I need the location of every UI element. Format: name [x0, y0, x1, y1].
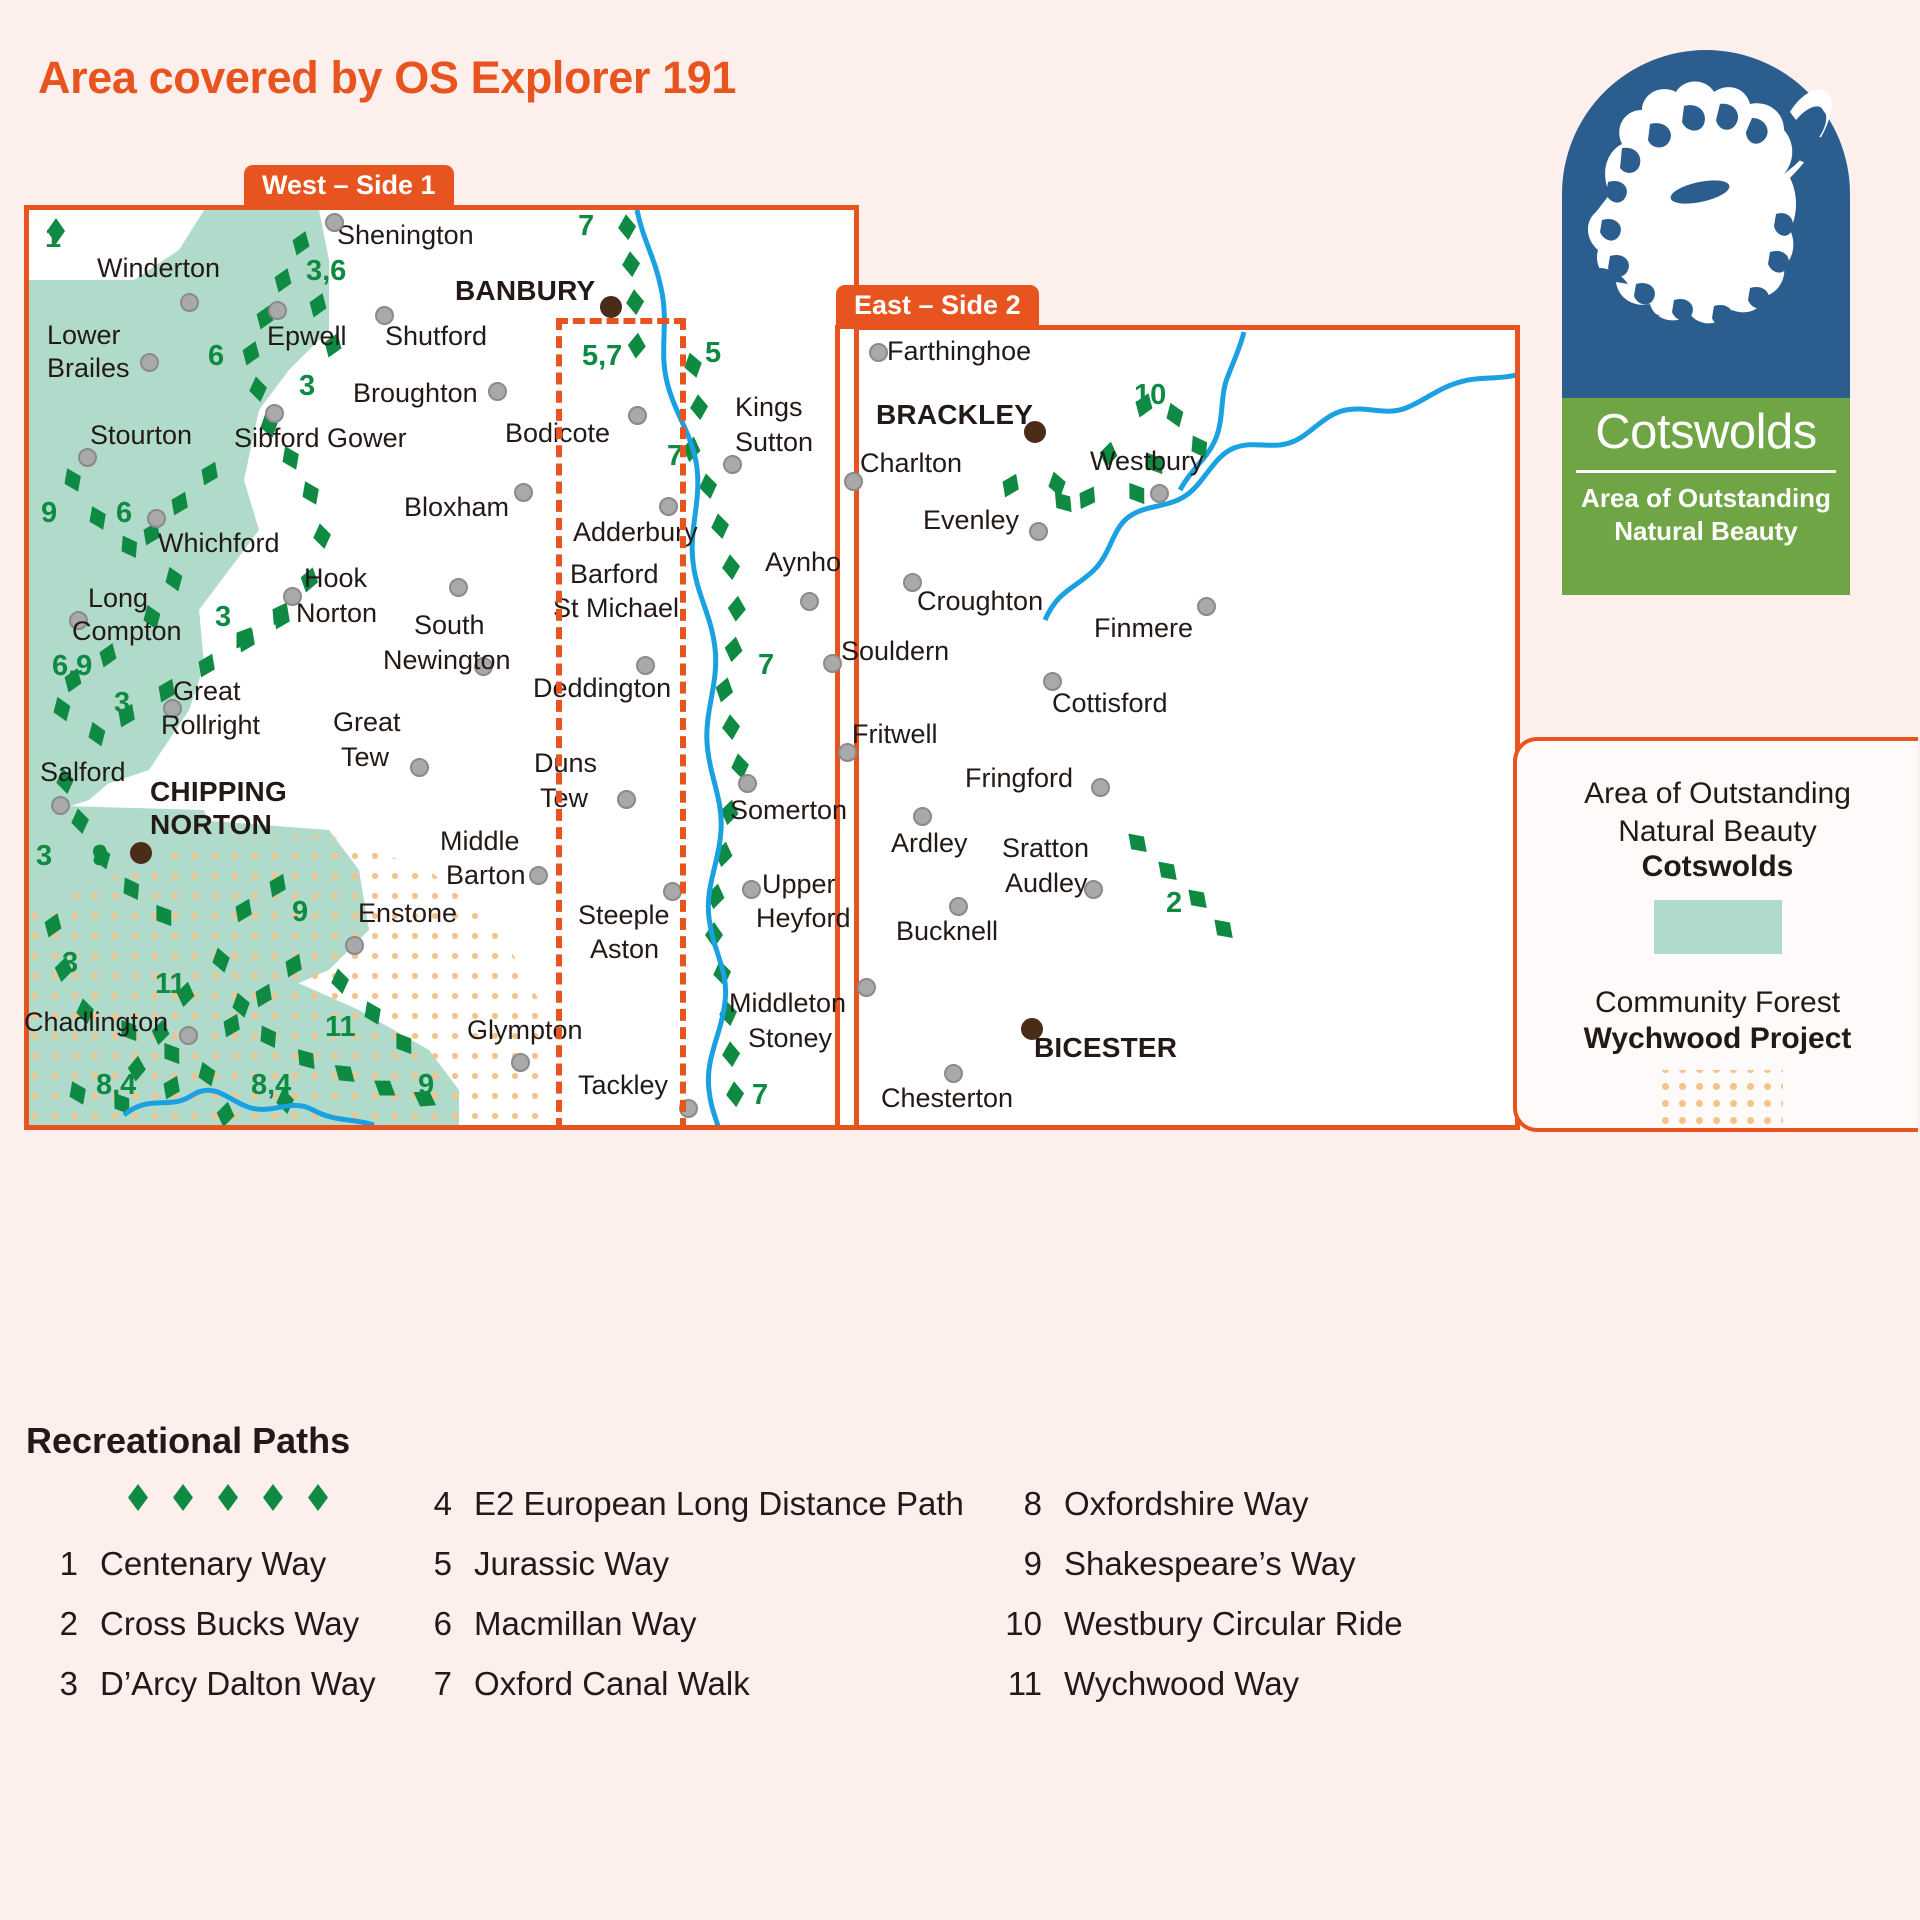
path-legend-number-6: 6: [400, 1605, 452, 1643]
path-legend-item-5: 5Jurassic Way: [400, 1545, 669, 1583]
path-legend-label-1: Centenary Way: [100, 1545, 326, 1583]
east-frame-left-edge: [835, 325, 840, 1130]
path-legend-label-7: Oxford Canal Walk: [474, 1665, 750, 1703]
path-legend-label-2: Cross Bucks Way: [100, 1605, 359, 1643]
path-legend-label-8: Oxfordshire Way: [1064, 1485, 1309, 1523]
cotswolds-logo: Cotswolds Area of Outstanding Natural Be…: [1540, 50, 1870, 595]
map-panel-east[interactable]: [835, 325, 1520, 1130]
east-map-canvas: [840, 330, 1515, 1125]
legend-wychwood-swatch: [1653, 1070, 1783, 1124]
path-legend-number-3: 3: [26, 1665, 78, 1703]
path-legend-label-4: E2 European Long Distance Path: [474, 1485, 964, 1523]
path-legend-number-8: 8: [990, 1485, 1042, 1523]
path-legend-label-9: Shakespeare’s Way: [1064, 1545, 1356, 1583]
path-legend-label-10: Westbury Circular Ride: [1064, 1605, 1403, 1643]
legend-forest-line1: Community Forest: [1517, 984, 1918, 1022]
path-legend-item-4: 4E2 European Long Distance Path: [400, 1485, 964, 1523]
recreational-path-trails-east: [840, 330, 1515, 1125]
logo-subtitle: Area of Outstanding Natural Beauty: [1562, 482, 1850, 549]
west-map-canvas: [29, 210, 854, 1125]
path-legend-number-10: 10: [990, 1605, 1042, 1643]
path-legend-item-1: 1Centenary Way: [26, 1545, 326, 1583]
logo-wordmark: Cotswolds: [1562, 404, 1850, 460]
path-legend-item-3: 3D’Arcy Dalton Way: [26, 1665, 376, 1703]
logo-divider: [1576, 470, 1836, 473]
legend-aonb-name: Cotswolds: [1517, 850, 1918, 884]
legend-aonb-line2: Natural Beauty: [1517, 813, 1918, 851]
path-legend-number-4: 4: [400, 1485, 452, 1523]
path-legend-item-8: 8Oxfordshire Way: [990, 1485, 1309, 1523]
path-legend-item-9: 9Shakespeare’s Way: [990, 1545, 1356, 1583]
path-legend-number-9: 9: [990, 1545, 1042, 1583]
legend-aonb-swatch: [1654, 900, 1782, 954]
path-legend-number-7: 7: [400, 1665, 452, 1703]
path-legend-number-2: 2: [26, 1605, 78, 1643]
path-legend-item-11: 11Wychwood Way: [990, 1665, 1299, 1703]
legend-aonb-line1: Area of Outstanding: [1517, 775, 1918, 813]
path-legend-number-11: 11: [990, 1665, 1042, 1703]
logo-subtitle-line1: Area of Outstanding: [1562, 482, 1850, 515]
path-legend-number-5: 5: [400, 1545, 452, 1583]
map-panel-west[interactable]: [24, 205, 859, 1130]
tab-east-side-2[interactable]: East – Side 2: [836, 285, 1039, 329]
map-key-legend: Area of Outstanding Natural Beauty Cotsw…: [1513, 737, 1918, 1132]
path-legend-item-2: 2Cross Bucks Way: [26, 1605, 359, 1643]
legend-forest-name: Wychwood Project: [1517, 1022, 1918, 1056]
path-legend-label-3: D’Arcy Dalton Way: [100, 1665, 376, 1703]
tab-west-side-1[interactable]: West – Side 1: [244, 165, 454, 209]
path-legend-label-11: Wychwood Way: [1064, 1665, 1299, 1703]
path-legend-item-10: 10Westbury Circular Ride: [990, 1605, 1403, 1643]
path-legend-number-1: 1: [26, 1545, 78, 1583]
logo-green-banner: Cotswolds Area of Outstanding Natural Be…: [1562, 398, 1850, 595]
river-evenlode: [29, 210, 854, 1125]
path-legend-item-6: 6Macmillan Way: [400, 1605, 696, 1643]
path-legend-item-7: 7Oxford Canal Walk: [400, 1665, 750, 1703]
sheep-head-icon: [1580, 74, 1832, 384]
path-legend-label-6: Macmillan Way: [474, 1605, 696, 1643]
logo-subtitle-line2: Natural Beauty: [1562, 515, 1850, 548]
path-legend-label-5: Jurassic Way: [474, 1545, 669, 1583]
